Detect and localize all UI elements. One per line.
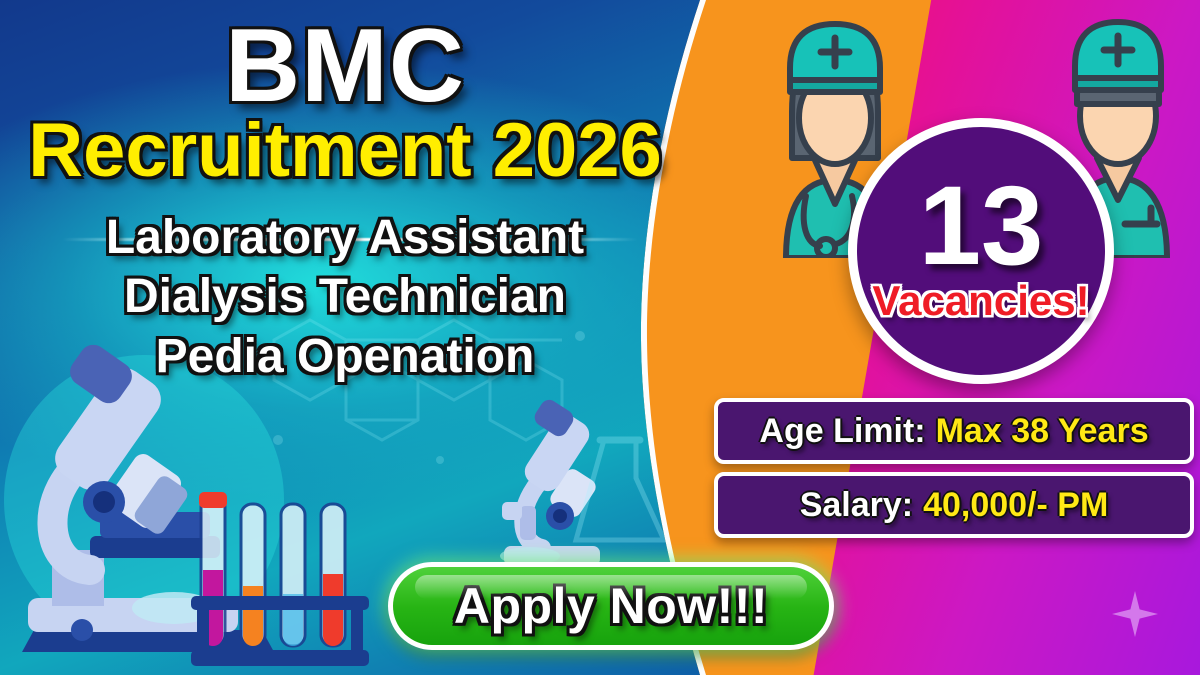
list-item: Dialysis Technician <box>0 267 690 327</box>
list-item: Laboratory Assistant <box>0 208 690 268</box>
positions-list: Laboratory Assistant Dialysis Technician… <box>0 208 690 387</box>
age-limit-label: Age Limit: <box>759 412 925 451</box>
salary-label: Salary: <box>800 486 913 525</box>
vacancy-caption: Vacancies! <box>872 280 1089 322</box>
page-title: Recruitment 2026 <box>0 112 690 190</box>
apply-now-button[interactable]: Apply Now!!! <box>388 562 834 650</box>
vacancy-count: 13 <box>919 174 1044 277</box>
age-limit-value: Max 38 Years <box>936 412 1149 451</box>
org-title: BMC <box>0 14 690 118</box>
button-gloss <box>415 575 807 599</box>
recruitment-poster: BMC Recruitment 2026 Laboratory Assistan… <box>0 0 1200 675</box>
salary-bar: Salary: 40,000/- PM <box>714 472 1194 538</box>
vacancy-badge: 13 Vacancies! <box>848 118 1114 384</box>
test-tube-rack-icon <box>185 478 375 675</box>
headline-block: BMC Recruitment 2026 Laboratory Assistan… <box>0 0 690 386</box>
age-limit-bar: Age Limit: Max 38 Years <box>714 398 1194 464</box>
salary-value: 40,000/- PM <box>923 486 1108 525</box>
list-item: Pedia Openation <box>0 327 690 387</box>
